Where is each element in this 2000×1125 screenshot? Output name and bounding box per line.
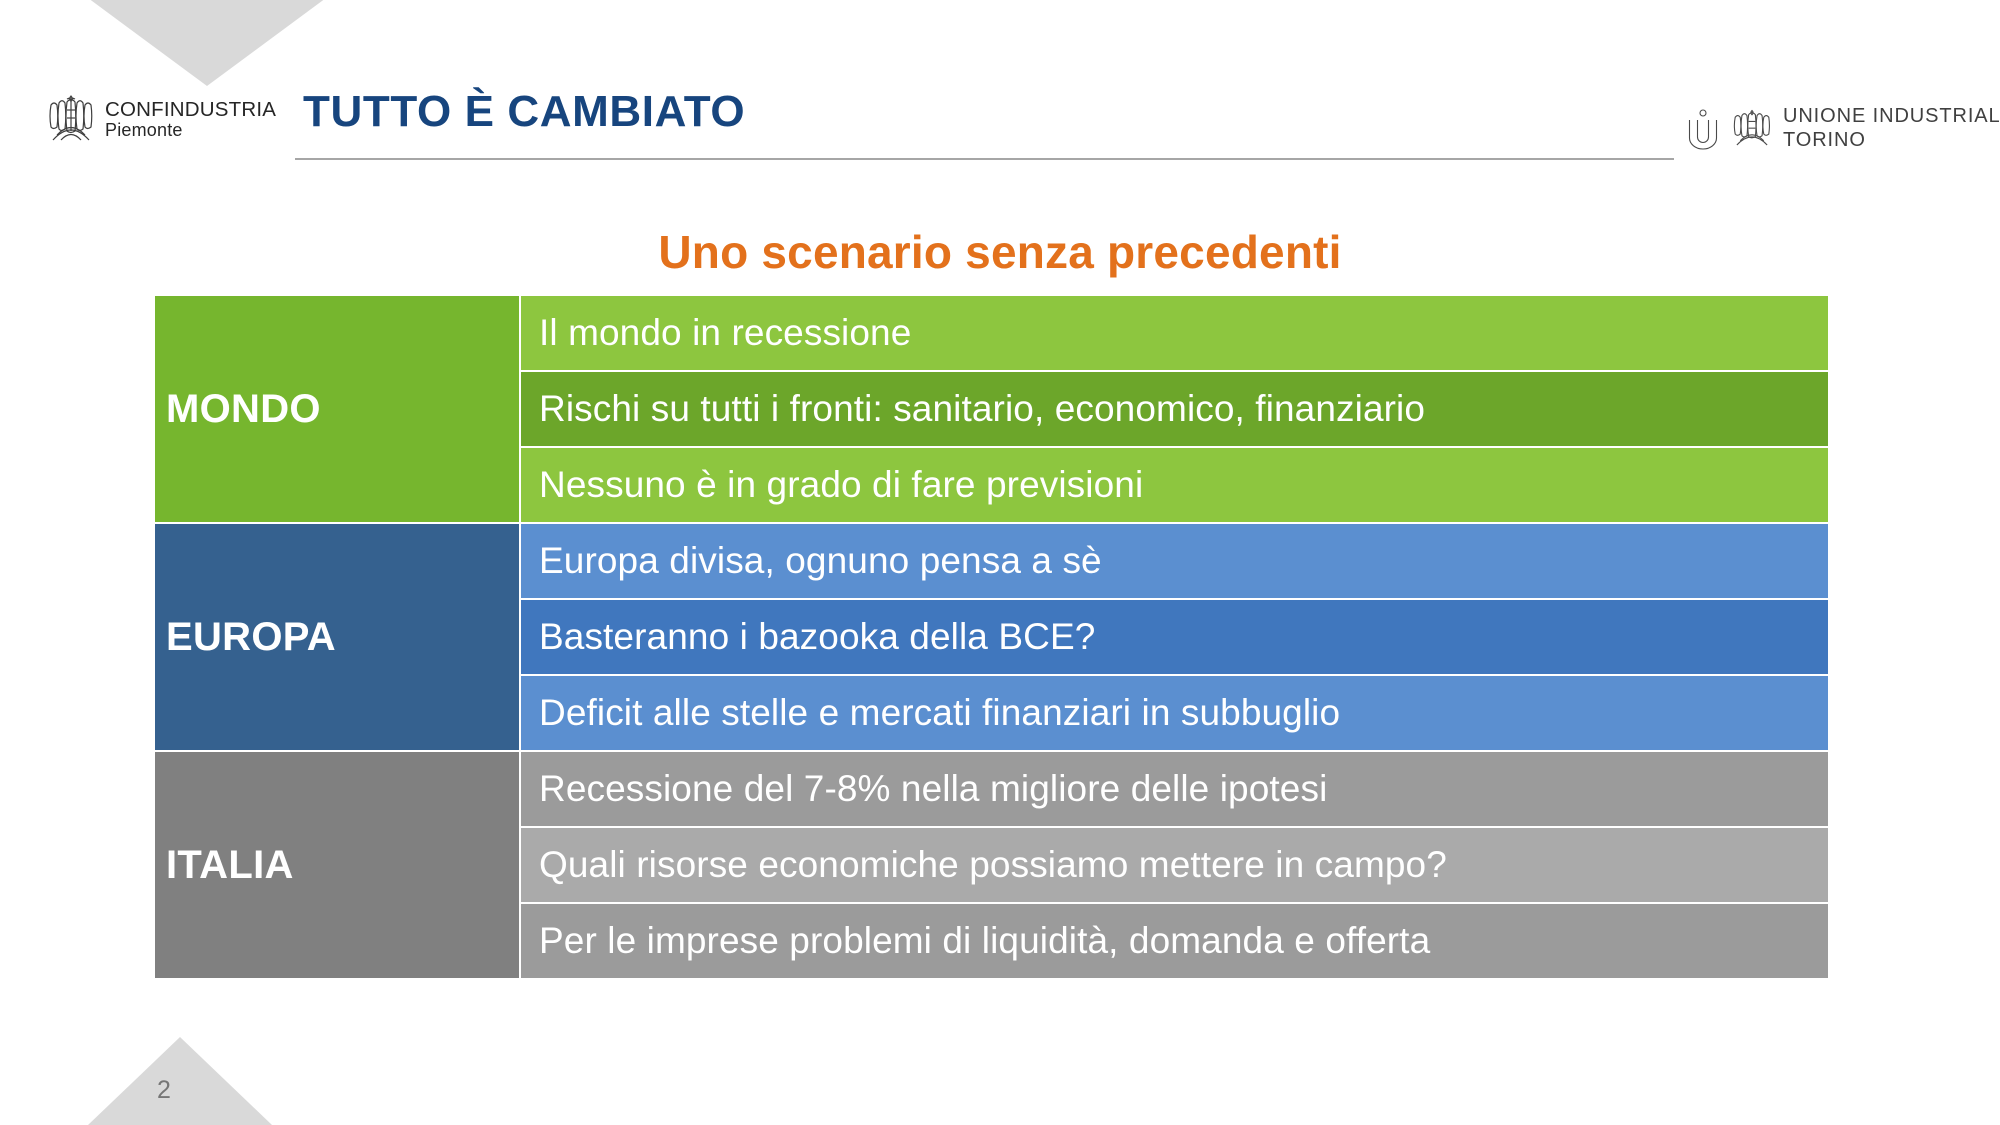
unione-industriale-torino-logo: UNIONE INDUSTRIALE TORINO: [1685, 105, 2000, 152]
confindustria-logo-line2: Piemonte: [105, 121, 276, 140]
matrix-row: Basteranno i bazooka della BCE?: [521, 600, 1828, 674]
unione-industriale-u-icon: [1685, 108, 1721, 150]
bottom-decoration-triangle-icon: [88, 1037, 272, 1125]
matrix-group-italia: ITALIA Recessione del 7-8% nella miglior…: [155, 752, 1828, 978]
unione-logo-line1: UNIONE INDUSTRIALE: [1783, 105, 2000, 129]
slide-header: CONFINDUSTRIA Piemonte TUTTO È CAMBIATO: [0, 0, 2000, 175]
matrix-group-rows: Il mondo in recessione Rischi su tutti i…: [521, 296, 1828, 522]
matrix-group-europa: EUROPA Europa divisa, ognuno pensa a sè …: [155, 524, 1828, 750]
matrix-row: Quali risorse economiche possiamo metter…: [521, 828, 1828, 902]
confindustria-eagle-icon: [46, 92, 96, 148]
scenario-matrix: MONDO Il mondo in recessione Rischi su t…: [155, 296, 1828, 978]
matrix-row: Rischi su tutti i fronti: sanitario, eco…: [521, 372, 1828, 446]
matrix-row: Deficit alle stelle e mercati finanziari…: [521, 676, 1828, 750]
slide-subtitle: Uno scenario senza precedenti: [0, 225, 2000, 279]
matrix-row: Nessuno è in grado di fare previsioni: [521, 448, 1828, 522]
title-underline-divider: [295, 158, 1674, 160]
page-number: 2: [157, 1076, 171, 1105]
page-title: TUTTO È CAMBIATO: [303, 90, 745, 134]
matrix-row: Per le imprese problemi di liquidità, do…: [521, 904, 1828, 978]
confindustria-piemonte-logo: CONFINDUSTRIA Piemonte: [46, 82, 286, 157]
matrix-group-label: EUROPA: [155, 524, 519, 750]
unione-logo-line2: TORINO: [1783, 129, 2000, 153]
matrix-row: Recessione del 7-8% nella migliore delle…: [521, 752, 1828, 826]
matrix-row: Europa divisa, ognuno pensa a sè: [521, 524, 1828, 598]
matrix-group-rows: Recessione del 7-8% nella migliore delle…: [521, 752, 1828, 978]
matrix-group-label: ITALIA: [155, 752, 519, 978]
matrix-group-rows: Europa divisa, ognuno pensa a sè Bastera…: [521, 524, 1828, 750]
slide: 2: [0, 0, 2000, 1125]
matrix-row: Il mondo in recessione: [521, 296, 1828, 370]
confindustria-eagle-icon: [1731, 108, 1773, 150]
matrix-group-mondo: MONDO Il mondo in recessione Rischi su t…: [155, 296, 1828, 522]
matrix-group-label: MONDO: [155, 296, 519, 522]
confindustria-logo-line1: CONFINDUSTRIA: [105, 99, 276, 121]
